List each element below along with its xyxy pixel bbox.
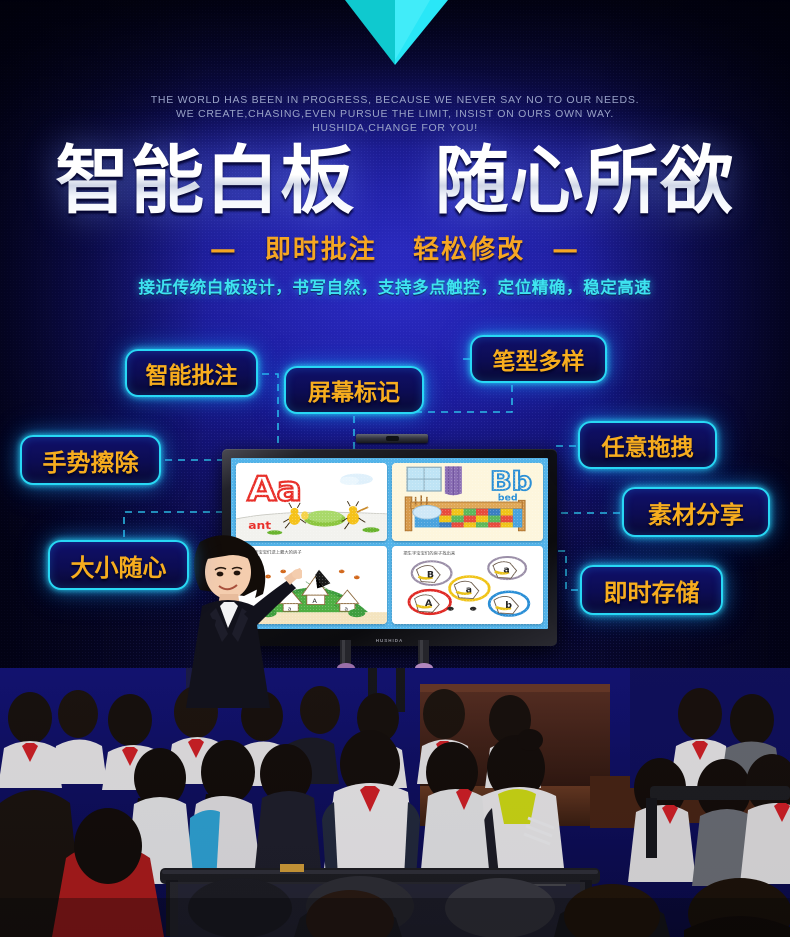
feature-chip-label: 笔型多样 [493, 342, 585, 376]
camera-sensor-bar [356, 434, 428, 443]
feature-chip-label: 屏幕标记 [308, 373, 400, 407]
feature-chip-label: 智能批注 [146, 356, 238, 390]
svg-text:A: A [425, 600, 432, 609]
svg-text:a: a [503, 566, 509, 575]
classroom-audience-photo [0, 668, 790, 937]
svg-text:bed: bed [498, 494, 518, 503]
feature-chip-left-2[interactable]: 手势擦除 [20, 435, 161, 485]
camera-lens-icon [386, 436, 399, 441]
feature-chip-label: 即时存储 [604, 573, 700, 608]
svg-text:Aa: Aa [247, 470, 302, 509]
feature-chip-right-2[interactable]: 任意拖拽 [578, 421, 717, 469]
feature-chip-left-1[interactable]: 智能批注 [125, 349, 258, 397]
svg-text:B: B [427, 571, 434, 580]
teacher-presenter [172, 528, 302, 708]
feature-chip-center-1[interactable]: 屏幕标记 [284, 366, 424, 414]
svg-text:b: b [505, 601, 512, 610]
promo-page: THE WORLD HAS BEEN IN PROGRESS, BECAUSE … [0, 0, 790, 937]
svg-text:Bb: Bb [490, 467, 532, 496]
feature-chip-label: 任意拖拽 [602, 428, 694, 462]
svg-text:把生字宝宝们的房子找出来: 把生字宝宝们的房子找出来 [403, 550, 455, 556]
feature-chip-right-3[interactable]: 素材分享 [622, 487, 770, 537]
svg-text:a: a [345, 607, 348, 613]
svg-text:A: A [312, 598, 317, 605]
annotation-circles-panel[interactable]: 把生字宝宝们的房子找出来 B a [392, 546, 543, 624]
feature-chip-label: 素材分享 [648, 495, 744, 530]
feature-chip-label: 手势擦除 [43, 443, 139, 478]
feature-chip-label: 大小随心 [71, 548, 167, 583]
feature-chip-right-4[interactable]: 即时存储 [580, 565, 723, 615]
letter-b-panel[interactable]: Bb bed [392, 463, 543, 541]
feature-chip-right-1[interactable]: 笔型多样 [470, 335, 607, 383]
svg-text:a: a [466, 586, 472, 595]
feature-chip-left-3[interactable]: 大小随心 [48, 540, 189, 590]
